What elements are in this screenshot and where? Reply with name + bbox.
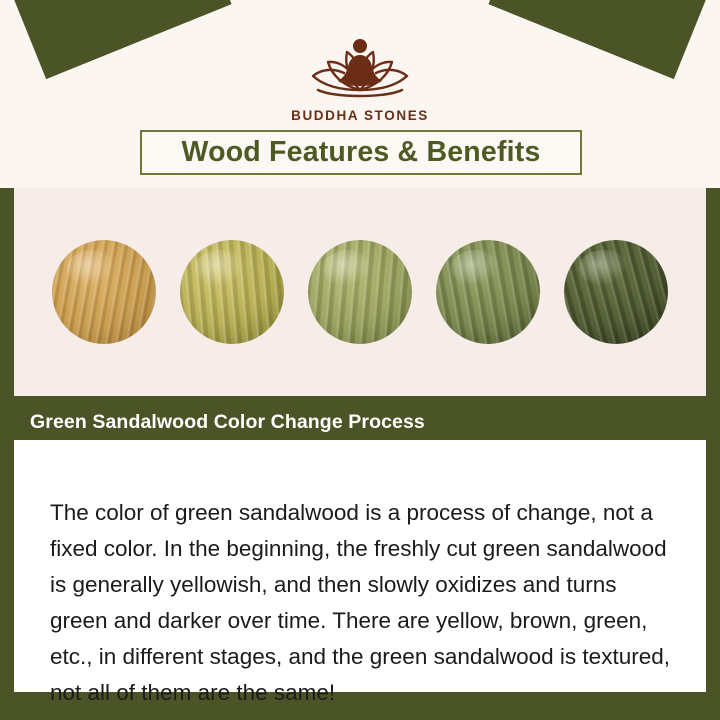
brand-logo: BUDDHA STONES	[0, 24, 720, 123]
bead-highlight-2	[195, 250, 245, 285]
infographic-page: BUDDHA STONES Wood Features & Benefits	[0, 0, 720, 720]
bead-stage-3	[308, 240, 412, 344]
brand-name: BUDDHA STONES	[0, 108, 720, 123]
page-title: Wood Features & Benefits	[182, 136, 541, 169]
header-band: BUDDHA STONES Wood Features & Benefits	[0, 0, 720, 188]
wood-color-samples	[14, 188, 706, 396]
ribbon-tail-shape	[471, 404, 489, 440]
section-ribbon-label: Green Sandalwood Color Change Process	[30, 411, 425, 434]
description-card: The color of green sandalwood is a proce…	[14, 440, 706, 692]
bead-stage-1	[52, 240, 156, 344]
bead-stage-4	[436, 240, 540, 344]
bead-highlight-4	[451, 250, 501, 285]
bead-stage-5	[564, 240, 668, 344]
bead-highlight-1	[67, 250, 117, 285]
bead-highlight-3	[323, 250, 373, 285]
bead-stage-2	[180, 240, 284, 344]
lotus-meditation-icon	[294, 24, 426, 106]
page-title-plaque: Wood Features & Benefits	[140, 130, 582, 175]
section-ribbon: Green Sandalwood Color Change Process	[14, 404, 471, 440]
description-paragraph: The color of green sandalwood is a proce…	[50, 495, 670, 711]
bead-highlight-5	[579, 250, 629, 285]
